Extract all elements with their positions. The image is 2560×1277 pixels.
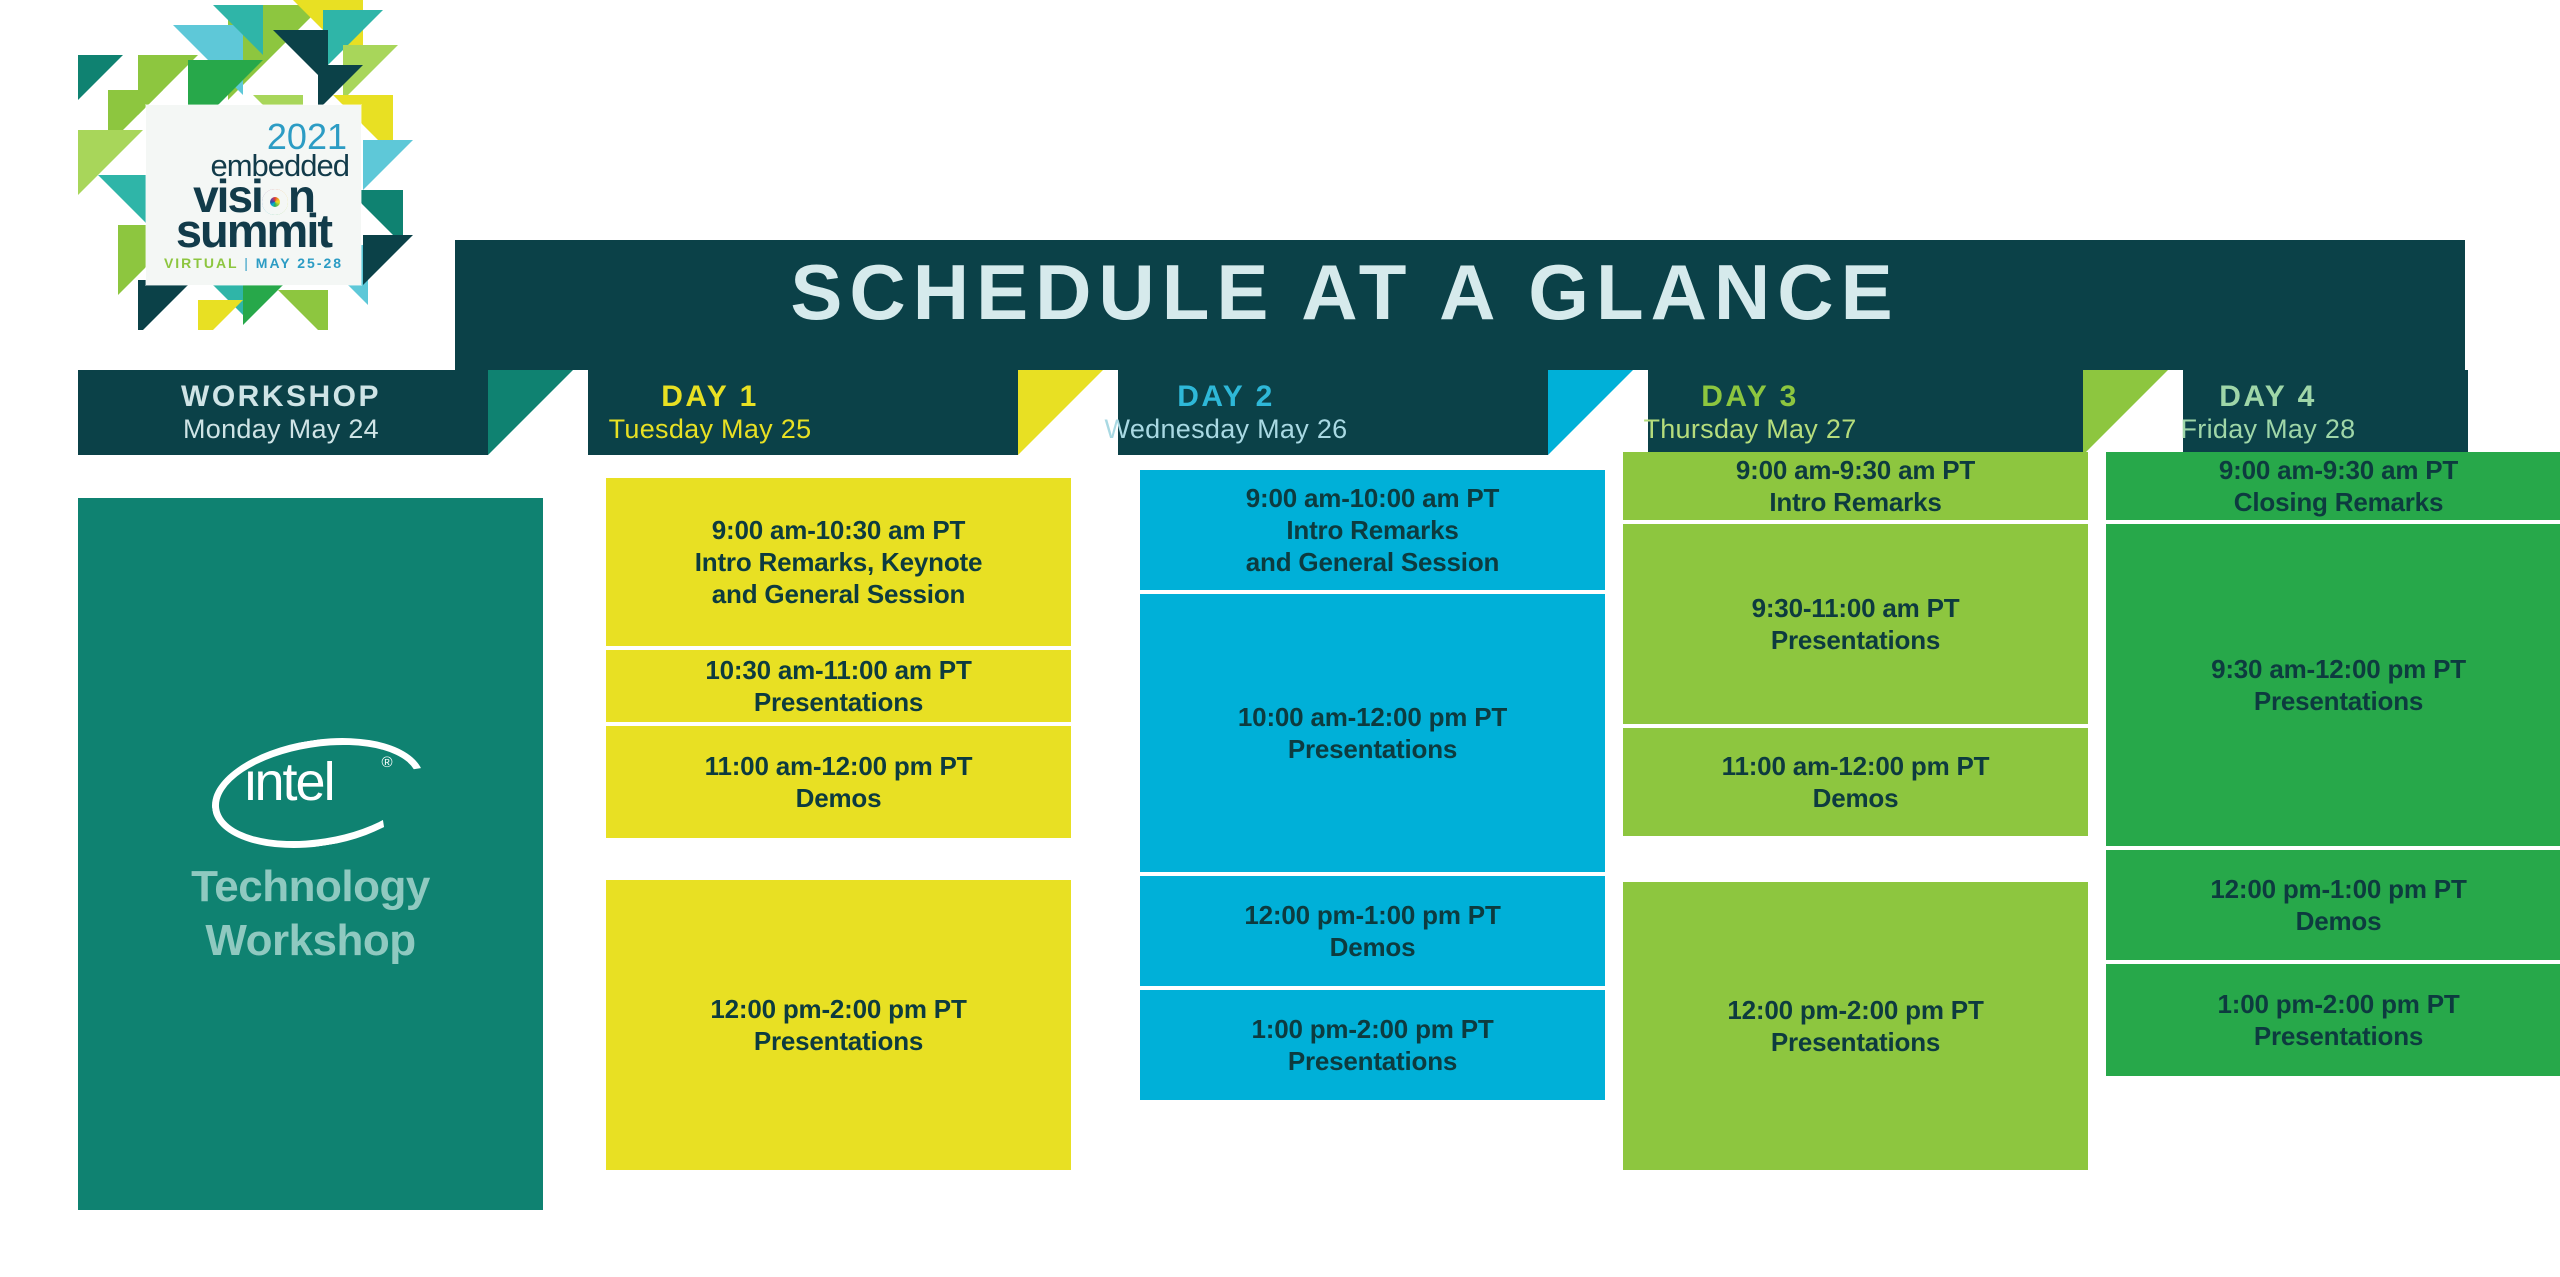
schedule-cell-time: 9:00 am-10:00 am PT [1246,482,1499,515]
schedule-cell-time: 9:00 am-9:30 am PT [1736,454,1975,487]
column-day1[interactable]: 9:00 am-10:30 am PTIntro Remarks, Keynot… [606,470,1071,1210]
schedule-cell-label: Presentations [1771,624,1940,657]
column-day4[interactable]: 9:00 am-9:30 am PTClosing Remarks9:30 am… [2106,470,2560,1210]
schedule-cell[interactable]: 12:00 pm-2:00 pm PTPresentations [1623,882,2088,1170]
mosaic-triangle [138,280,193,330]
schedule-cell-label: Intro Remarks, Keynote [695,546,982,579]
day-header-name: DAY 4 [2219,382,2317,413]
schedule-cell[interactable]: 1:00 pm-2:00 pm PTPresentations [1140,990,1605,1100]
schedule-cell-label: Demos [796,782,882,815]
schedule-cell-label: Presentations [2254,1020,2423,1053]
workshop-cell[interactable]: intel®TechnologyWorkshop [78,498,543,1210]
mosaic-triangle [198,300,243,330]
schedule-cell-label: Presentations [1771,1026,1940,1059]
logo-card: 2021 embedded visin summit VIRTUAL | MAY… [146,105,361,285]
schedule-cell[interactable]: 12:00 pm-2:00 pm PTPresentations [606,880,1071,1170]
schedule-cell-label: Intro Remarks [1286,514,1458,547]
schedule-cell-time: 1:00 pm-2:00 pm PT [2217,988,2459,1021]
schedule-cell[interactable]: 10:30 am-11:00 am PTPresentations [606,650,1071,722]
logo-vision-pre: visi [193,170,262,222]
schedule-cell[interactable]: 9:00 am-9:30 am PTIntro Remarks [1623,452,2088,520]
schedule-cell[interactable]: 10:00 am-12:00 pm PTPresentations [1140,594,1605,872]
schedule-grid: intel®TechnologyWorkshop9:00 am-10:30 am… [78,470,2468,1230]
schedule-cell-time: 10:00 am-12:00 pm PT [1238,701,1507,734]
mosaic-triangle [213,5,263,55]
logo-dates: MAY 25-28 [256,255,343,271]
schedule-cell-time: 1:00 pm-2:00 pm PT [1251,1013,1493,1046]
page-title: SCHEDULE AT A GLANCE [455,248,2235,338]
mosaic-triangle [318,65,363,110]
schedule-cell-time: 9:30 am-12:00 pm PT [2211,653,2466,686]
logo-virtual-word: VIRTUAL [164,255,238,271]
schedule-cell-label: Presentations [1288,1045,1457,1078]
day-header-2[interactable]: DAY 1Tuesday May 25 [490,370,930,455]
schedule-cell-time: 12:00 pm-1:00 pm PT [1244,899,1500,932]
day-header-1[interactable]: WORKSHOPMonday May 24 [61,370,501,455]
day-header-name: DAY 2 [1177,382,1275,413]
schedule-cell[interactable]: 1:00 pm-2:00 pm PTPresentations [2106,964,2560,1076]
schedule-cell-label: Intro Remarks [1769,486,1941,519]
schedule-cell-time: 12:00 pm-2:00 pm PT [710,993,966,1026]
day-header-5[interactable]: DAY 4Friday May 28 [2048,370,2488,455]
schedule-cell[interactable]: 9:30-11:00 am PTPresentations [1623,524,2088,724]
day-header-name: DAY 3 [1701,382,1799,413]
schedule-cell-label-line2: and General Session [712,579,965,611]
schedule-cell[interactable]: 12:00 pm-1:00 pm PTDemos [1140,876,1605,986]
schedule-cell-time: 12:00 pm-2:00 pm PT [1727,994,1983,1027]
schedule-cell[interactable]: 12:00 pm-1:00 pm PTDemos [2106,850,2560,960]
event-logo: 2021 embedded visin summit VIRTUAL | MAY… [78,0,418,330]
day-header-date: Monday May 24 [183,416,379,444]
column-day3[interactable]: 9:00 am-9:30 am PTIntro Remarks9:30-11:0… [1623,470,2088,1210]
schedule-cell-time: 11:00 am-12:00 pm PT [1722,750,1990,783]
schedule-cell-time: 10:30 am-11:00 am PT [705,654,971,687]
logo-vision-post: n [288,170,314,222]
schedule-cell[interactable]: 9:00 am-10:30 am PTIntro Remarks, Keynot… [606,478,1071,646]
workshop-title: TechnologyWorkshop [191,860,430,967]
schedule-cell-label: Presentations [754,686,923,719]
column-day2[interactable]: 9:00 am-10:00 am PTIntro Remarksand Gene… [1140,470,1605,1210]
workshop-title-line2: Workshop [191,914,430,968]
day-header-strip: WORKSHOPMonday May 24DAY 1Tuesday May 25… [78,370,2468,455]
day-header-date: Tuesday May 25 [609,416,812,444]
day-header-3[interactable]: DAY 2Wednesday May 26 [1006,370,1446,455]
schedule-cell-label-line2: and General Session [1246,547,1499,579]
schedule-cell-label: Demos [2296,905,2382,938]
schedule-cell-time: 9:00 am-9:30 am PT [2219,454,2458,487]
schedule-cell-time: 9:00 am-10:30 am PT [712,514,965,547]
intel-logo-icon: intel® [211,740,411,832]
schedule-cell-label: Demos [1330,931,1416,964]
logo-vision-text: visin [193,176,314,216]
day-header-date: Thursday May 27 [1643,416,1856,444]
day-header-name: WORKSHOP [181,382,381,413]
rainbow-dot-icon [262,189,288,215]
schedule-cell-time: 12:00 pm-1:00 pm PT [2210,873,2466,906]
schedule-cell-time: 11:00 am-12:00 pm PT [705,750,973,783]
schedule-cell-time: 9:30-11:00 am PT [1752,592,1960,625]
schedule-cell[interactable]: 9:00 am-9:30 am PTClosing Remarks [2106,452,2560,520]
schedule-cell[interactable]: 9:00 am-10:00 am PTIntro Remarksand Gene… [1140,470,1605,590]
day-header-date: Friday May 28 [2181,416,2356,444]
mosaic-triangle [278,290,328,330]
logo-virtual-line: VIRTUAL | MAY 25-28 [164,255,343,271]
logo-separator: | [244,255,250,271]
intel-registered-mark: ® [381,754,392,771]
schedule-cell-label: Presentations [1288,733,1457,766]
schedule-cell-label: Presentations [754,1025,923,1058]
schedule-cell[interactable]: 11:00 am-12:00 pm PTDemos [1623,728,2088,836]
schedule-cell-label: Closing Remarks [2234,486,2443,519]
day-header-4[interactable]: DAY 3Thursday May 27 [1530,370,1970,455]
mosaic-triangle [363,140,413,190]
workshop-title-line1: Technology [191,860,430,914]
day-header-date: Wednesday May 26 [1105,416,1348,444]
column-workshop[interactable]: intel®TechnologyWorkshop [78,498,543,1210]
schedule-cell[interactable]: 11:00 am-12:00 pm PTDemos [606,726,1071,838]
schedule-cell-label: Demos [1813,782,1899,815]
day-header-name: DAY 1 [661,382,759,413]
schedule-cell-label: Presentations [2254,685,2423,718]
mosaic-triangle [363,235,413,285]
mosaic-triangle [78,55,123,100]
schedule-cell[interactable]: 9:30 am-12:00 pm PTPresentations [2106,524,2560,846]
intel-wordmark: intel [245,751,334,813]
